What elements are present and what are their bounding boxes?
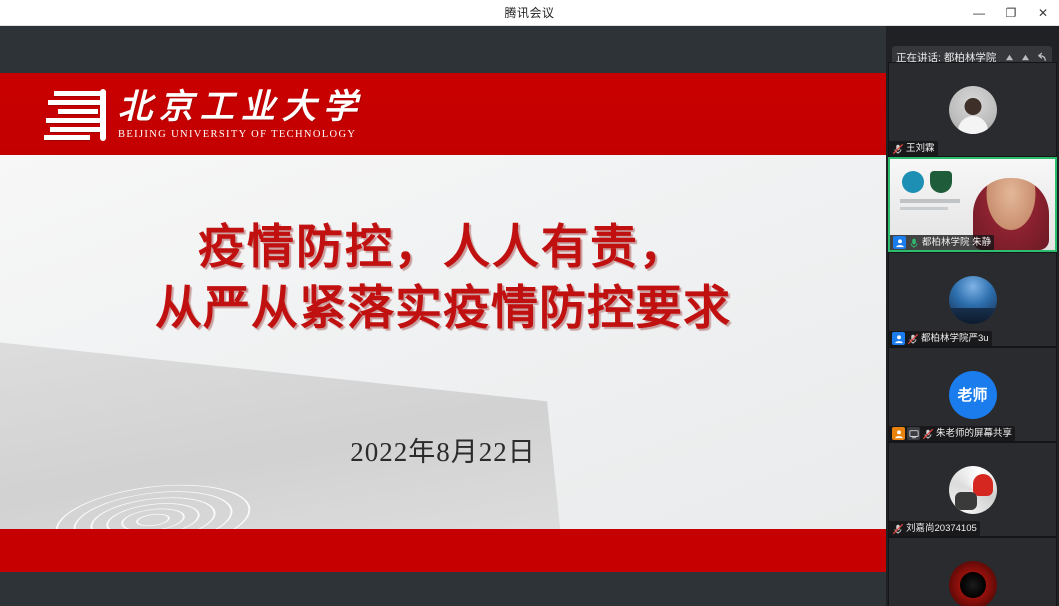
mic-muted-icon — [922, 428, 934, 440]
participant-namebar: 都柏林学院 朱静 — [890, 235, 994, 250]
avatar — [949, 561, 997, 606]
participant-tile[interactable]: 222372105 门浩泽 — [888, 537, 1057, 606]
university-name-en: BEIJING UNIVERSITY OF TECHNOLOGY — [118, 129, 364, 140]
mic-muted-icon — [907, 333, 919, 345]
slide-body: 疫情防控，人人有责， 从严从紧落实疫情防控要求 2022年8月22日 — [0, 155, 886, 529]
mic-muted-icon — [892, 523, 904, 535]
slide-date: 2022年8月22日 — [0, 430, 886, 469]
participant-tile[interactable]: 老师 朱老师的屏幕共享 — [888, 347, 1057, 442]
host-badge-icon — [893, 236, 906, 249]
shared-screen-stage[interactable]: 北京工业大学 BEIJING UNIVERSITY OF TECHNOLOGY … — [0, 26, 886, 606]
participant-namebar: 朱老师的屏幕共享 — [889, 426, 1015, 441]
but-logo-mark-icon — [44, 87, 106, 142]
slide-title: 疫情防控，人人有责， 从严从紧落实疫情防控要求 — [0, 217, 886, 339]
university-logo: 北京工业大学 BEIJING UNIVERSITY OF TECHNOLOGY — [44, 87, 364, 142]
slide-badge-icon — [902, 171, 924, 193]
slide-title-line1: 疫情防控，人人有责， — [0, 217, 886, 278]
participant-name: 刘嘉尚20374105 — [906, 524, 977, 534]
avatar: 老师 — [949, 371, 997, 419]
window-title: 腾讯会议 — [504, 4, 554, 21]
participant-namebar: 王刘霖 — [889, 141, 938, 156]
host-badge-icon — [892, 427, 905, 440]
minimize-button[interactable]: — — [963, 0, 995, 26]
participant-tile[interactable]: 都柏林学院严3u — [888, 252, 1057, 347]
slide-header-band: 北京工业大学 BEIJING UNIVERSITY OF TECHNOLOGY — [0, 73, 886, 155]
participant-name: 都柏林学院 朱静 — [922, 238, 991, 248]
slide-crest-icon — [930, 171, 952, 193]
participant-tile[interactable]: 刘嘉尚20374105 — [888, 442, 1057, 537]
slide-footer-band — [0, 529, 886, 572]
presentation-slide: 北京工业大学 BEIJING UNIVERSITY OF TECHNOLOGY … — [0, 73, 886, 572]
slide-title-line2: 从严从紧落实疫情防控要求 — [0, 278, 886, 339]
screen-share-icon — [907, 427, 920, 440]
participant-namebar: 都柏林学院严3u — [889, 331, 992, 346]
mic-active-icon — [908, 237, 920, 249]
maximize-button[interactable]: ❐ — [995, 0, 1027, 26]
window-titlebar: 腾讯会议 — ❐ ✕ — [0, 0, 1059, 26]
close-button[interactable]: ✕ — [1027, 0, 1059, 26]
participant-name: 王刘霖 — [906, 144, 935, 154]
participant-name: 朱老师的屏幕共享 — [936, 429, 1012, 439]
avatar — [949, 466, 997, 514]
participant-namebar: 刘嘉尚20374105 — [889, 521, 980, 536]
participant-tile[interactable]: 王刘霖 — [888, 62, 1057, 157]
university-name-cn: 北京工业大学 — [118, 88, 364, 127]
participant-rail[interactable]: 正在讲话: 都柏林学院 朱静 王刘霖 — [886, 26, 1059, 606]
mic-muted-icon — [892, 143, 904, 155]
participant-tile[interactable]: 都柏林学院 朱静 — [888, 157, 1057, 252]
host-badge-icon — [892, 332, 905, 345]
avatar — [949, 276, 997, 324]
avatar — [949, 86, 997, 134]
window-controls: — ❐ ✕ — [963, 0, 1059, 26]
participant-name: 都柏林学院严3u — [921, 334, 989, 344]
